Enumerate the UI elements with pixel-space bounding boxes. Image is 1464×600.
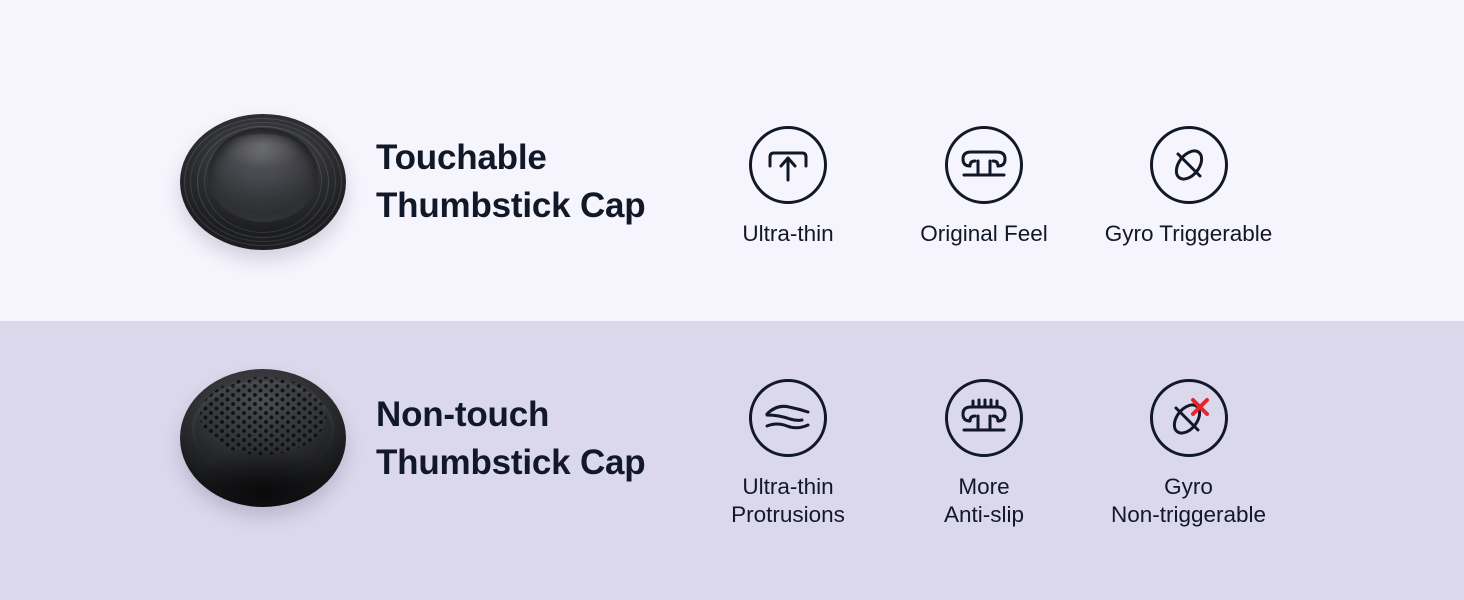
ribbed-concave-thumbstick-cap-image [178, 108, 348, 256]
feature-gyro-non-triggerable[interactable]: Gyro Non-triggerable [1082, 379, 1295, 529]
product-title-touchable: Touchable Thumbstick Cap [376, 134, 645, 231]
thumbstick-profile-spikes-icon [945, 379, 1023, 457]
feature-label-ultra-thin: Ultra-thin [742, 220, 833, 248]
feature-label-gyro-non-triggerable: Gyro Non-triggerable [1111, 473, 1266, 529]
product-non-touch: Non-touch Thumbstick Cap [178, 365, 645, 513]
feature-more-anti-slip[interactable]: More Anti-slip [886, 379, 1082, 529]
feature-list-touchable: Ultra-thin Original Feel [690, 126, 1295, 248]
product-touchable: Touchable Thumbstick Cap [178, 108, 645, 256]
feature-label-ultra-thin-protrusions: Ultra-thin Protrusions [731, 473, 845, 529]
thumbstick-profile-icon [945, 126, 1023, 204]
feature-label-gyro-triggerable: Gyro Triggerable [1105, 220, 1273, 248]
studded-dome-thumbstick-cap-image [178, 365, 348, 513]
feature-list-non-touch: Ultra-thin Protrusions More An [690, 379, 1295, 529]
feature-label-original-feel: Original Feel [920, 220, 1048, 248]
feature-ultra-thin[interactable]: Ultra-thin [690, 126, 886, 248]
feature-ultra-thin-protrusions[interactable]: Ultra-thin Protrusions [690, 379, 886, 529]
wavy-texture-icon [749, 379, 827, 457]
feature-gyro-triggerable[interactable]: Gyro Triggerable [1082, 126, 1295, 248]
product-title-non-touch: Non-touch Thumbstick Cap [376, 391, 645, 488]
product-comparison-infographic: Touchable Thumbstick Cap Ultra-thin [0, 0, 1464, 600]
feature-label-more-anti-slip: More Anti-slip [944, 473, 1024, 529]
ultra-thin-arrow-icon [749, 126, 827, 204]
gyroscope-crossed-icon [1150, 379, 1228, 457]
gyroscope-icon [1150, 126, 1228, 204]
feature-original-feel[interactable]: Original Feel [886, 126, 1082, 248]
